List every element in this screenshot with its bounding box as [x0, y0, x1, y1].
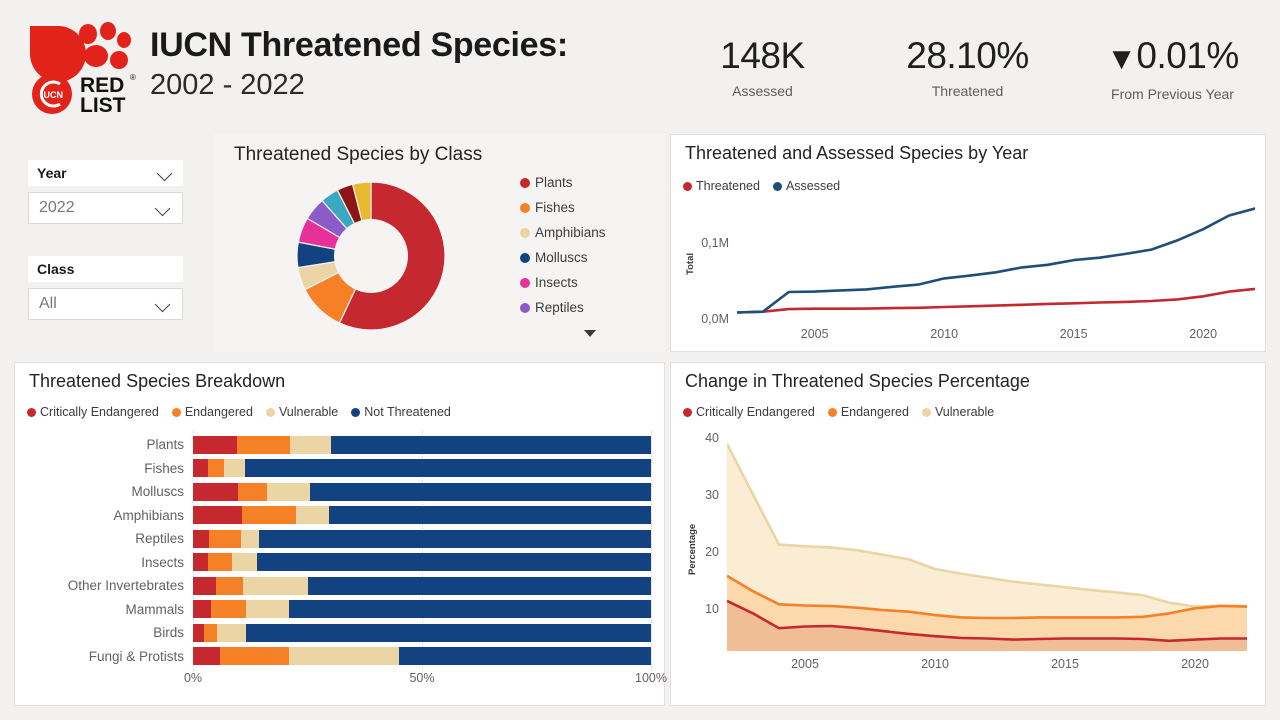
legend-item[interactable]: Threatened — [683, 179, 760, 193]
bar-track — [193, 483, 651, 501]
bar-segment[interactable] — [224, 459, 246, 477]
bar-segment[interactable] — [245, 459, 651, 477]
legend-label: Plants — [535, 175, 573, 190]
logo-text-list: LIST — [80, 94, 126, 114]
bar-segment[interactable] — [243, 577, 308, 595]
bar-track — [193, 553, 651, 571]
bar-row[interactable]: Molluscs — [29, 480, 651, 504]
legend-dot — [351, 408, 360, 417]
chevron-down-icon[interactable] — [155, 299, 172, 309]
area-chart-plot[interactable] — [727, 429, 1247, 651]
donut-legend-item[interactable]: Insects — [520, 270, 660, 295]
legend-dot — [520, 203, 530, 213]
donut-legend[interactable]: PlantsFishesAmphibiansMolluscsInsectsRep… — [520, 170, 660, 320]
kpi-threatened: 28.10% Threatened — [865, 32, 1070, 124]
bar-track — [193, 600, 651, 618]
legend-item[interactable]: Endangered — [172, 405, 253, 419]
bar-chart-title: Threatened Species Breakdown — [29, 371, 285, 392]
bar-segment[interactable] — [209, 530, 241, 548]
donut-hole — [334, 219, 408, 293]
bar-segment[interactable] — [289, 647, 399, 665]
bar-row-label: Plants — [29, 437, 193, 452]
slicer-panel: Year 2022 Class All — [14, 134, 214, 352]
legend-item[interactable]: Endangered — [828, 405, 909, 419]
bar-row[interactable]: Fishes — [29, 457, 651, 481]
page-title: IUCN Threatened Species: — [150, 24, 568, 66]
y-tick-label: 30 — [671, 488, 719, 502]
svg-text:®: ® — [130, 73, 136, 82]
header-titles: IUCN Threatened Species: 2002 - 2022 — [150, 24, 568, 104]
donut-legend-item[interactable]: Reptiles — [520, 295, 660, 320]
x-tick-label: 2010 — [914, 327, 974, 341]
kpi-change: ▼0.01% From Previous Year — [1070, 32, 1275, 124]
donut-legend-item[interactable]: Plants — [520, 170, 660, 195]
legend-label: Insects — [535, 275, 578, 290]
bar-segment[interactable] — [241, 530, 259, 548]
slicer-year[interactable]: Year 2022 — [28, 160, 183, 224]
legend-label: Endangered — [185, 405, 253, 419]
legend-dot — [520, 228, 530, 238]
bar-segment[interactable] — [193, 553, 208, 571]
kpi-row: 148K Assessed 28.10% Threatened ▼0.01% F… — [660, 32, 1275, 124]
legend-label: Molluscs — [535, 250, 588, 265]
bar-segment[interactable] — [290, 436, 331, 454]
slicer-year-value: 2022 — [39, 199, 75, 217]
legend-label: Not Threatened — [364, 405, 451, 419]
bar-track — [193, 624, 651, 642]
legend-dot — [172, 408, 181, 417]
legend-item[interactable]: Critically Endangered — [683, 405, 815, 419]
bar-row[interactable]: Plants — [29, 433, 651, 457]
line-chart-plot[interactable] — [737, 199, 1255, 321]
legend-dot — [683, 408, 692, 417]
kpi-threatened-value: 28.10% — [865, 32, 1070, 80]
bar-segment[interactable] — [246, 624, 651, 642]
bar-row-label: Insects — [29, 555, 193, 570]
x-tick-label: 50% — [392, 671, 452, 685]
line-chart-panel: Threatened and Assessed Species by Year … — [670, 134, 1266, 352]
area-chart-title: Change in Threatened Species Percentage — [685, 371, 1030, 392]
bar-segment[interactable] — [267, 483, 311, 501]
bar-segment[interactable] — [217, 624, 246, 642]
legend-item[interactable]: Critically Endangered — [27, 405, 159, 419]
legend-label: Amphibians — [535, 225, 606, 240]
bar-row-label: Reptiles — [29, 531, 193, 546]
bar-segment[interactable] — [193, 459, 208, 477]
slicer-year-dropdown[interactable]: 2022 — [28, 192, 183, 224]
bar-segment[interactable] — [331, 436, 651, 454]
bar-row[interactable]: Fungi & Protists — [29, 645, 651, 669]
chevron-down-icon[interactable] — [155, 203, 172, 213]
kpi-assessed-label: Assessed — [660, 80, 865, 102]
bar-segment[interactable] — [289, 600, 651, 618]
chevron-down-icon[interactable] — [157, 168, 174, 178]
line-y-tick-lower: 0,0M — [677, 312, 729, 326]
line-chart-legend[interactable]: ThreatenedAssessed — [683, 179, 840, 193]
bar-track — [193, 577, 651, 595]
bar-segment[interactable] — [246, 600, 289, 618]
legend-dot — [683, 182, 692, 191]
dashboard-root: IUCN RED LIST ® IUCN Threatened Species:… — [0, 0, 1280, 720]
bar-row[interactable]: Birds — [29, 621, 651, 645]
x-tick-label: 2015 — [1035, 657, 1095, 671]
svg-text:IUCN: IUCN — [41, 90, 63, 100]
bar-segment[interactable] — [308, 577, 651, 595]
legend-label: Critically Endangered — [696, 405, 815, 419]
bar-segment[interactable] — [296, 506, 328, 524]
donut-chart-panel: Threatened Species by Class PlantsFishes… — [214, 134, 665, 352]
legend-dot — [828, 408, 837, 417]
legend-item[interactable]: Assessed — [773, 179, 840, 193]
bar-segment[interactable] — [238, 483, 267, 501]
legend-dot — [520, 278, 530, 288]
legend-label: Assessed — [786, 179, 840, 193]
bar-segment[interactable] — [329, 506, 651, 524]
y-tick-label: 40 — [671, 431, 719, 445]
legend-dot — [266, 408, 275, 417]
bar-track — [193, 530, 651, 548]
bar-segment[interactable] — [242, 506, 296, 524]
slicer-year-header[interactable]: Year — [28, 160, 183, 186]
donut-legend-item[interactable]: Molluscs — [520, 245, 660, 270]
bar-chart-x-axis: 0%50%100% — [193, 671, 651, 689]
bar-track — [193, 459, 651, 477]
area-chart-panel: Change in Threatened Species Percentage … — [670, 362, 1266, 706]
kpi-assessed-value: 148K — [660, 32, 865, 80]
bar-segment[interactable] — [211, 600, 246, 618]
bar-chart-panel: Threatened Species Breakdown Critically … — [14, 362, 665, 706]
legend-dot — [922, 408, 931, 417]
x-tick-label: 2020 — [1165, 657, 1225, 671]
donut-legend-item[interactable]: Amphibians — [520, 220, 660, 245]
legend-label: Fishes — [535, 200, 575, 215]
kpi-change-label: From Previous Year — [1070, 83, 1275, 105]
x-tick-label: 2005 — [775, 657, 835, 671]
legend-label: Threatened — [696, 179, 760, 193]
line-y-axis-title: Total — [685, 253, 696, 275]
bar-row[interactable]: Other Invertebrates — [29, 574, 651, 598]
bar-chart-legend[interactable]: Critically EndangeredEndangeredVulnerabl… — [27, 405, 451, 419]
bar-segment[interactable] — [193, 647, 220, 665]
kpi-threatened-label: Threatened — [865, 80, 1070, 102]
bar-segment[interactable] — [232, 553, 256, 571]
y-tick-label: 10 — [671, 602, 719, 616]
bar-segment[interactable] — [193, 600, 211, 618]
slicer-class-value: All — [39, 295, 57, 313]
gridline — [651, 431, 652, 671]
legend-item[interactable]: Vulnerable — [922, 405, 994, 419]
bar-row[interactable]: Insects — [29, 551, 651, 575]
x-tick-label: 2005 — [785, 327, 845, 341]
x-tick-label: 2020 — [1173, 327, 1233, 341]
bar-row-label: Other Invertebrates — [29, 578, 193, 593]
area-chart-legend[interactable]: Critically EndangeredEndangeredVulnerabl… — [683, 405, 994, 419]
x-tick-label: 2010 — [905, 657, 965, 671]
slicer-class-dropdown[interactable]: All — [28, 288, 183, 320]
slicer-class-header[interactable]: Class — [28, 256, 183, 282]
logo-svg: IUCN RED LIST ® — [26, 22, 138, 114]
bar-row-label: Amphibians — [29, 508, 193, 523]
bar-row[interactable]: Reptiles — [29, 527, 651, 551]
legend-item[interactable]: Not Threatened — [351, 405, 451, 419]
bar-row-label: Birds — [29, 625, 193, 640]
legend-dot — [520, 303, 530, 313]
bar-row-label: Mammals — [29, 602, 193, 617]
legend-label: Reptiles — [535, 300, 584, 315]
bar-row-label: Molluscs — [29, 484, 193, 499]
bar-segment[interactable] — [193, 577, 216, 595]
bar-row[interactable]: Mammals — [29, 598, 651, 622]
bar-segment[interactable] — [399, 647, 651, 665]
bar-segment[interactable] — [208, 553, 232, 571]
kpi-change-number: 0.01% — [1136, 35, 1238, 76]
slicer-year-header-label: Year — [37, 165, 67, 181]
bar-segment[interactable] — [193, 530, 209, 548]
line-y-tick-upper: 0,1M — [677, 236, 729, 250]
line-series[interactable] — [737, 209, 1255, 313]
legend-dot — [773, 182, 782, 191]
slicer-class[interactable]: Class All — [28, 256, 183, 320]
bar-track — [193, 436, 651, 454]
bar-segment[interactable] — [208, 459, 224, 477]
bar-segment[interactable] — [193, 506, 242, 524]
x-tick-label: 2015 — [1044, 327, 1104, 341]
bar-row-label: Fishes — [29, 461, 193, 476]
line-chart-title: Threatened and Assessed Species by Year — [685, 143, 1028, 164]
bar-segment[interactable] — [204, 624, 218, 642]
y-tick-label: 20 — [671, 545, 719, 559]
legend-scroll-down-icon[interactable] — [584, 330, 596, 337]
slicer-class-header-label: Class — [37, 261, 74, 277]
legend-dot — [520, 178, 530, 188]
bar-track — [193, 506, 651, 524]
kpi-change-value: ▼0.01% — [1070, 32, 1275, 83]
iucn-red-list-logo: IUCN RED LIST ® — [26, 22, 138, 114]
dashboard-header: IUCN RED LIST ® IUCN Threatened Species:… — [0, 0, 1280, 128]
x-tick-label: 0% — [163, 671, 223, 685]
bar-chart-rows[interactable]: PlantsFishesMolluscsAmphibiansReptilesIn… — [29, 433, 651, 668]
legend-dot — [27, 408, 36, 417]
legend-label: Vulnerable — [279, 405, 338, 419]
bar-segment[interactable] — [220, 647, 289, 665]
bar-segment[interactable] — [216, 577, 243, 595]
trend-down-icon: ▼ — [1106, 41, 1136, 76]
donut-chart[interactable] — [296, 180, 446, 332]
bar-row-label: Fungi & Protists — [29, 649, 193, 664]
page-subtitle: 2002 - 2022 — [150, 66, 568, 104]
legend-label: Critically Endangered — [40, 405, 159, 419]
donut-legend-item[interactable]: Fishes — [520, 195, 660, 220]
legend-label: Endangered — [841, 405, 909, 419]
bar-segment[interactable] — [259, 530, 651, 548]
bar-track — [193, 647, 651, 665]
bar-segment[interactable] — [193, 436, 237, 454]
kpi-assessed: 148K Assessed — [660, 32, 865, 124]
bar-segment[interactable] — [193, 624, 204, 642]
legend-dot — [520, 253, 530, 263]
bar-segment[interactable] — [237, 436, 291, 454]
bar-segment[interactable] — [257, 553, 651, 571]
legend-label: Vulnerable — [935, 405, 994, 419]
legend-item[interactable]: Vulnerable — [266, 405, 338, 419]
bar-segment[interactable] — [193, 483, 238, 501]
bar-row[interactable]: Amphibians — [29, 504, 651, 528]
bar-segment[interactable] — [310, 483, 651, 501]
donut-chart-title: Threatened Species by Class — [234, 144, 482, 166]
